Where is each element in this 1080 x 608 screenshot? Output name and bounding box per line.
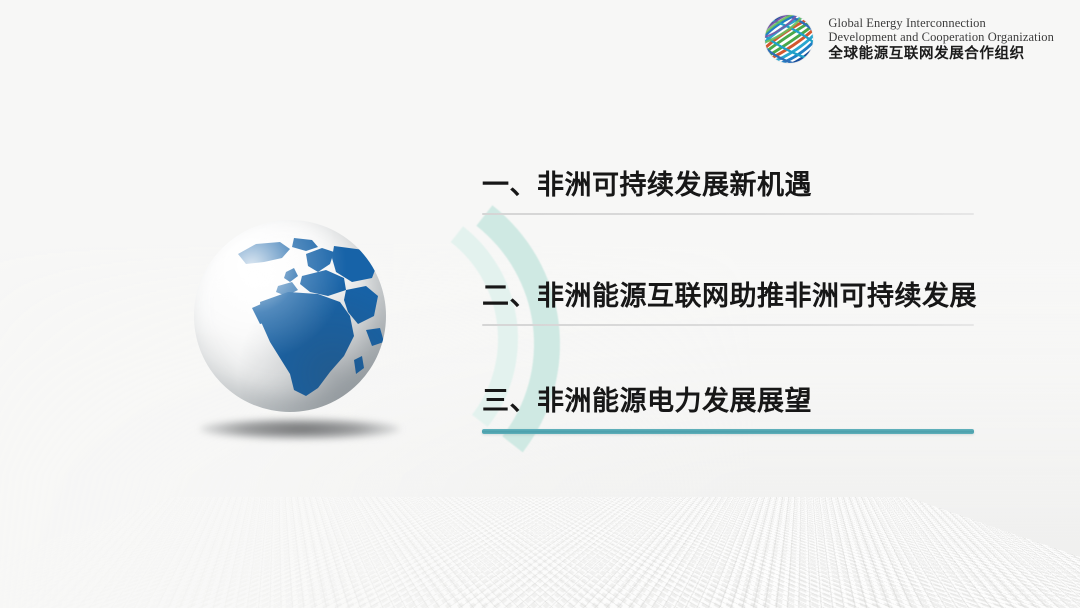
globe-shadow-ellipse <box>200 418 400 440</box>
org-name-en-line1: Global Energy Interconnection <box>828 16 1054 30</box>
agenda-item-1-rule <box>482 213 974 215</box>
org-name-cn: 全球能源互联网发展合作组织 <box>828 46 1054 62</box>
organization-name-block: Global Energy Interconnection Developmen… <box>828 16 1054 62</box>
agenda-spacer-2 <box>482 326 974 388</box>
agenda-list: 一、非洲可持续发展新机遇 二、非洲能源互联网助推非洲可持续发展 三、非洲能源电力… <box>482 172 974 434</box>
agenda-item-1-label: 一、非洲可持续发展新机遇 <box>482 172 974 199</box>
agenda-item-2-rule <box>482 324 974 326</box>
agenda-item-2[interactable]: 二、非洲能源互联网助推非洲可持续发展 <box>482 283 974 326</box>
globe-continents <box>194 220 386 412</box>
agenda-item-3[interactable]: 三、非洲能源电力发展展望 <box>482 388 974 434</box>
organization-logo: Global Energy Interconnection Developmen… <box>760 10 1054 68</box>
earth-globe-icon <box>194 220 386 412</box>
agenda-item-3-rule <box>482 429 974 434</box>
agenda-item-3-label: 三、非洲能源电力发展展望 <box>482 388 974 415</box>
agenda-item-2-label: 二、非洲能源互联网助推非洲可持续发展 <box>482 283 974 310</box>
agenda-spacer-1 <box>482 215 974 283</box>
globe-illustration <box>186 180 496 460</box>
presentation-slide: Global Energy Interconnection Developmen… <box>0 0 1080 608</box>
agenda-item-1[interactable]: 一、非洲可持续发展新机遇 <box>482 172 974 215</box>
gei-globe-logo-icon <box>760 10 818 68</box>
org-name-en-line2: Development and Cooperation Organization <box>828 30 1054 44</box>
